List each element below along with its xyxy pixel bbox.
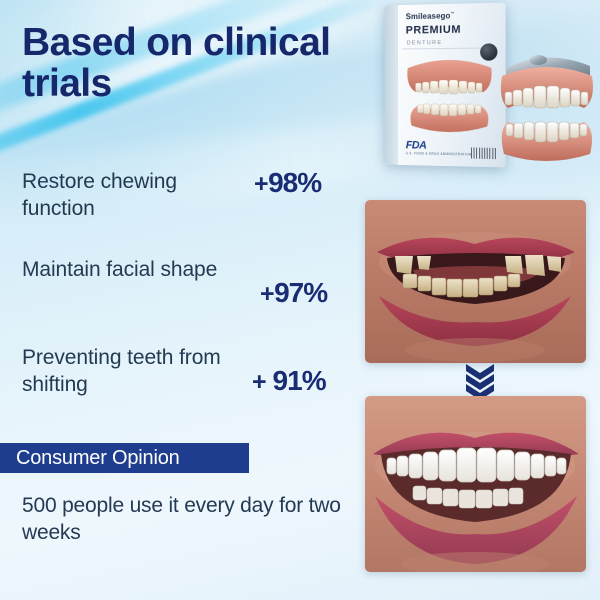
benefit-plus-sign: + [252, 368, 273, 396]
product-box: Smileasego™ PREMIUM DENTURE [383, 4, 505, 166]
advertisement-poster: Based on clinical trials Restore chewing… [0, 0, 600, 600]
denture-illustration [398, 56, 502, 137]
fda-badge: FDAU.S. FOOD & DRUG ADMINISTRATION [406, 139, 472, 156]
fda-sublabel: U.S. FOOD & DRUG ADMINISTRATION [406, 151, 472, 156]
product-brand-name: Smileasego™ [406, 11, 455, 22]
benefit-value: 97% [274, 277, 327, 308]
product-tier-label: PREMIUM [406, 24, 461, 37]
consumer-opinion-note: 500 people use it every day for two week… [22, 492, 352, 547]
product-box-spine [385, 5, 398, 165]
benefit-percentage: +97% [260, 277, 327, 309]
benefit-row: Preventing teeth from shifting + 91% [22, 341, 362, 429]
trademark-symbol: ™ [450, 11, 454, 16]
benefit-row: Maintain facial shape +97% [22, 253, 362, 341]
benefit-plus-sign: + [260, 280, 274, 308]
benefit-label: Maintain facial shape [22, 257, 237, 284]
page-title: Based on clinical trials [22, 22, 372, 105]
fda-label: FDA [406, 139, 427, 151]
benefit-plus-sign: + [254, 170, 268, 198]
before-photo [365, 200, 586, 363]
benefit-label: Preventing teeth from shifting [22, 345, 237, 398]
product-box-face: Smileasego™ PREMIUM DENTURE [385, 3, 506, 168]
benefit-value: 91% [273, 365, 326, 396]
benefit-percentage: + 91% [252, 365, 326, 397]
benefit-value: 98% [268, 167, 321, 198]
dental-model-illustration [492, 42, 600, 166]
product-category-label: DENTURE [407, 40, 443, 46]
benefit-percentage: +98% [254, 167, 321, 199]
after-photo [365, 396, 586, 572]
consumer-opinion-banner: Consumer Opinion [0, 443, 249, 473]
benefit-row: Restore chewing function +98% [22, 165, 362, 253]
double-chevron-down-icon [463, 362, 497, 396]
consumer-opinion-label: Consumer Opinion [0, 447, 180, 470]
benefit-label: Restore chewing function [22, 169, 237, 222]
benefits-list: Restore chewing function +98% Maintain f… [22, 165, 362, 429]
